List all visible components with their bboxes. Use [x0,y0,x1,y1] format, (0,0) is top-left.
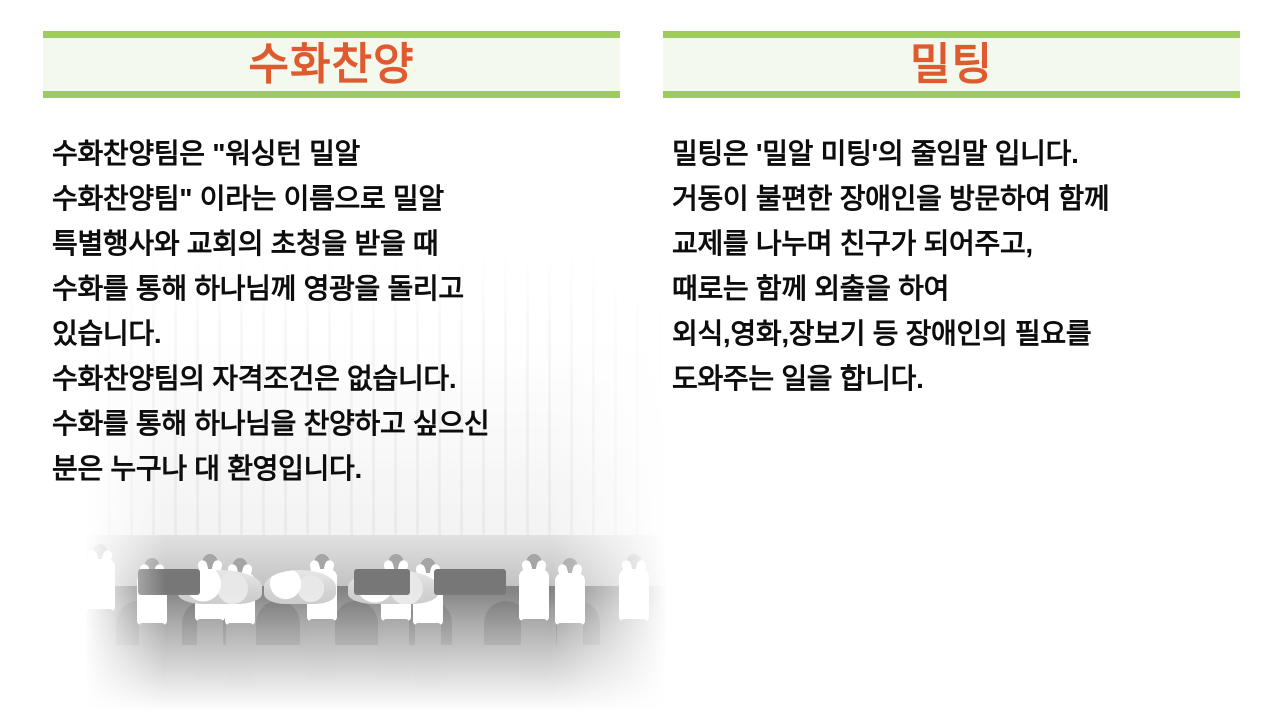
body-line: 수화를 통해 하나님을 찬양하고 싶으신 [52,401,620,446]
body-line: 수화를 통해 하나님께 영광을 돌리고 [52,266,620,311]
body-text-milting: 밀팅은 '밀알 미팅'의 줄임말 입니다. 거동이 불편한 장애인을 방문하여 … [672,131,1240,401]
body-line: 밀팅은 '밀알 미팅'의 줄임말 입니다. [672,131,1240,176]
body-line: 있습니다. [52,311,620,356]
column-sign-language-praise: 수화찬양 수화찬양팀은 "워싱턴 밀알 수화찬양팀" 이라는 이름으로 밀알 특… [43,0,620,720]
page-title-milting: 밀팅 [910,43,993,87]
body-line: 교제를 나누며 친구가 되어주고, [672,221,1240,266]
body-line: 수화찬양팀" 이라는 이름으로 밀알 [52,176,620,221]
body-line: 외식,영화,장보기 등 장애인의 필요를 [672,311,1240,356]
header-banner-sign-language-praise: 수화찬양 [43,31,620,98]
audience-silhouette [86,586,666,710]
body-line: 수화찬양팀의 자격조건은 없습니다. [52,356,620,401]
body-line: 거동이 불편한 장애인을 방문하여 함께 [672,176,1240,221]
body-line: 분은 누구나 대 환영입니다. [52,446,620,491]
header-banner-milting: 밀팅 [663,31,1240,98]
body-line: 때로는 함께 외출을 하여 [672,266,1240,311]
body-line: 도와주는 일을 합니다. [672,356,1240,401]
body-line: 수화찬양팀은 "워싱턴 밀알 [52,131,620,176]
column-milting: 밀팅 밀팅은 '밀알 미팅'의 줄임말 입니다. 거동이 불편한 장애인을 방문… [663,0,1240,720]
slide-root: 수화찬양 수화찬양팀은 "워싱턴 밀알 수화찬양팀" 이라는 이름으로 밀알 특… [0,0,1280,720]
stage-floor [86,535,666,590]
body-line: 특별행사와 교회의 초청을 받을 때 [52,221,620,266]
body-text-sign-language-praise: 수화찬양팀은 "워싱턴 밀알 수화찬양팀" 이라는 이름으로 밀알 특별행사와 … [52,131,620,491]
page-title-sign-language-praise: 수화찬양 [249,43,415,87]
